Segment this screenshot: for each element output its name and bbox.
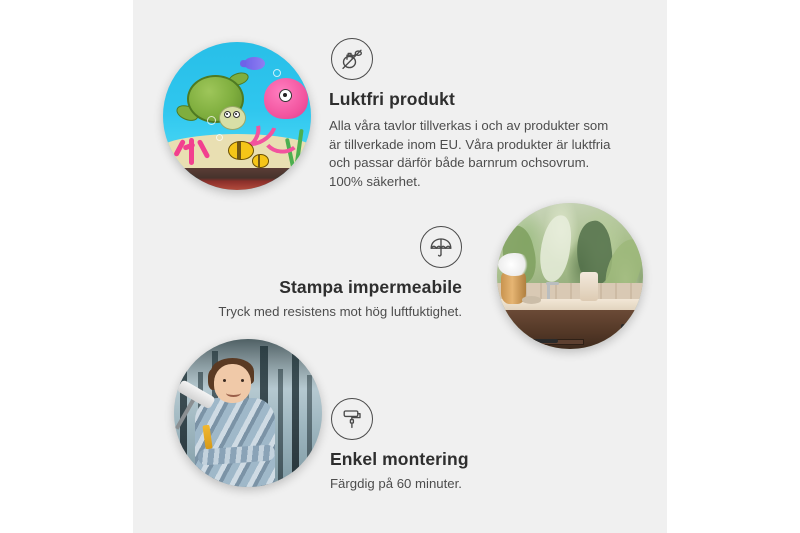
- feature-mounting: Enkel montering Färgdig på 60 minuter.: [330, 398, 610, 494]
- feature-title: Luktfri produkt: [329, 89, 621, 111]
- left-margin: [0, 0, 133, 533]
- no-odour-spray-bottle-icon: [331, 38, 373, 80]
- photo-bathroom: [497, 203, 643, 349]
- feature-title: Enkel montering: [330, 449, 610, 471]
- right-margin: [667, 0, 800, 533]
- feature-description: Färgdig på 60 minuter.: [330, 475, 610, 494]
- umbrella-icon: [420, 226, 462, 268]
- feature-description: Alla våra tavlor tillverkas i och av pro…: [329, 117, 621, 192]
- underwater-illustration: [163, 42, 311, 190]
- photo-installer: [174, 339, 322, 487]
- feature-odourless: Luktfri produkt Alla våra tavlor tillver…: [329, 38, 621, 192]
- product-feature-panel: Luktfri produkt Alla våra tavlor tillver…: [0, 0, 800, 533]
- bathroom-illustration: [497, 203, 643, 349]
- paint-roller-icon: [331, 398, 373, 440]
- feature-waterproof: Stampa impermeabile Tryck med resistens …: [180, 226, 462, 322]
- installer-illustration: [174, 339, 322, 487]
- feature-title: Stampa impermeabile: [180, 277, 462, 299]
- photo-underwater: [163, 42, 311, 190]
- feature-description: Tryck med resistens mot hög luftfuktighe…: [180, 303, 462, 322]
